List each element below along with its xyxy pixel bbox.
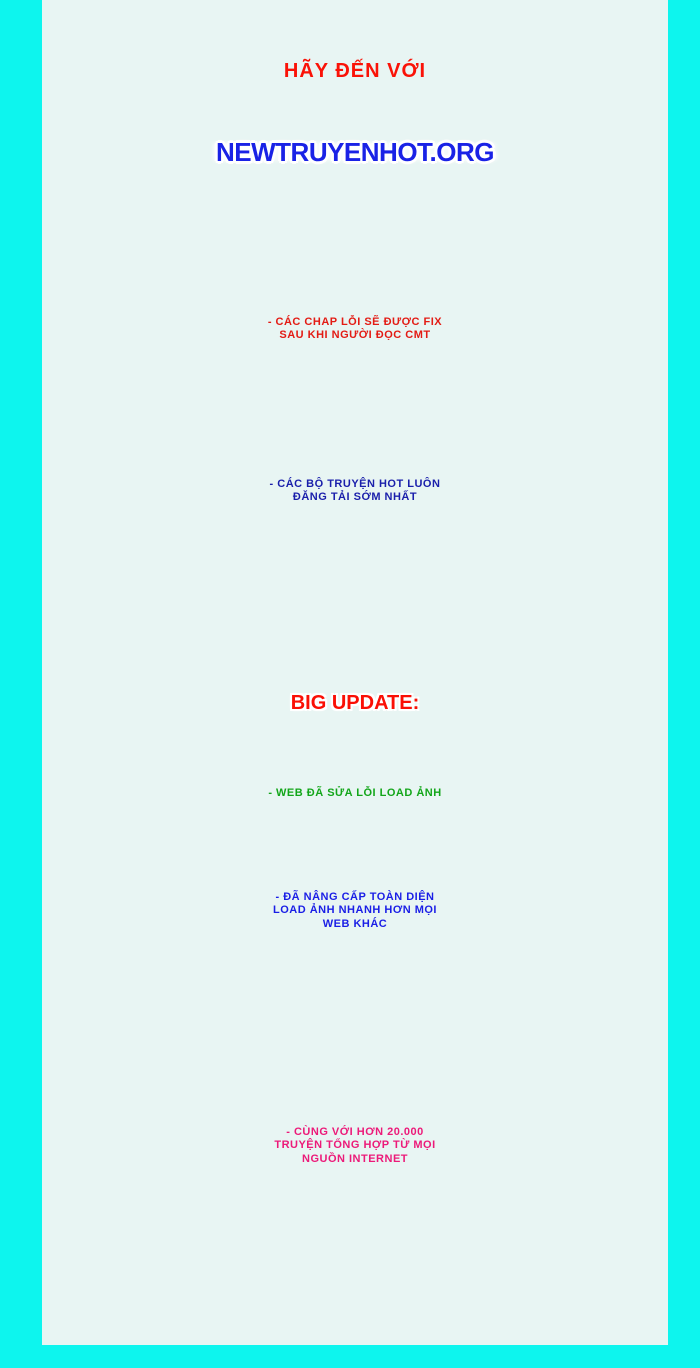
update-item-full-upgrade-line-2: LOAD ẢNH NHANH HƠN MỌI: [42, 904, 668, 917]
update-item-story-count-line-2: TRUYỆN TỔNG HỢP TỪ MỌI: [42, 1139, 668, 1152]
invite-headline: HÃY ĐẾN VỚI: [42, 60, 668, 83]
right-cyan-border: [668, 0, 700, 1345]
bottom-cyan-border: [0, 1345, 700, 1368]
big-update-heading: BIG UPDATE:: [42, 692, 668, 715]
left-cyan-border: [0, 0, 42, 1345]
update-item-story-count: - CÙNG VỚI HƠN 20.000 TRUYỆN TỔNG HỢP TỪ…: [42, 1126, 668, 1166]
notice-hot-series-line-2: ĐĂNG TẢI SỚM NHẤT: [42, 491, 668, 504]
banner-content-area: HÃY ĐẾN VỚI NEWTRUYENHOT.ORG - CÁC CHAP …: [42, 0, 668, 1345]
notice-hot-series: - CÁC BỘ TRUYỆN HOT LUÔN ĐĂNG TẢI SỚM NH…: [42, 478, 668, 505]
update-item-story-count-line-1: - CÙNG VỚI HƠN 20.000: [42, 1126, 668, 1139]
notice-fix-chapters-line-1: - CÁC CHAP LỖI SẼ ĐƯỢC FIX: [42, 316, 668, 329]
notice-fix-chapters: - CÁC CHAP LỖI SẼ ĐƯỢC FIX SAU KHI NGƯỜI…: [42, 316, 668, 343]
site-url-headline[interactable]: NEWTRUYENHOT.ORG: [42, 137, 668, 168]
update-item-story-count-line-3: NGUỒN INTERNET: [42, 1153, 668, 1166]
update-item-full-upgrade: - ĐÃ NÂNG CẤP TOÀN DIỆN LOAD ẢNH NHANH H…: [42, 891, 668, 931]
update-item-full-upgrade-line-1: - ĐÃ NÂNG CẤP TOÀN DIỆN: [42, 891, 668, 904]
update-item-image-load-fix: - WEB ĐÃ SỬA LỖI LOAD ẢNH: [42, 787, 668, 799]
notice-fix-chapters-line-2: SAU KHI NGƯỜI ĐỌC CMT: [42, 329, 668, 342]
notice-hot-series-line-1: - CÁC BỘ TRUYỆN HOT LUÔN: [42, 478, 668, 491]
update-item-image-load-fix-line-1: - WEB ĐÃ SỬA LỖI LOAD ẢNH: [42, 787, 668, 799]
promo-banner: HÃY ĐẾN VỚI NEWTRUYENHOT.ORG - CÁC CHAP …: [0, 0, 700, 1368]
update-item-full-upgrade-line-3: WEB KHÁC: [42, 918, 668, 931]
